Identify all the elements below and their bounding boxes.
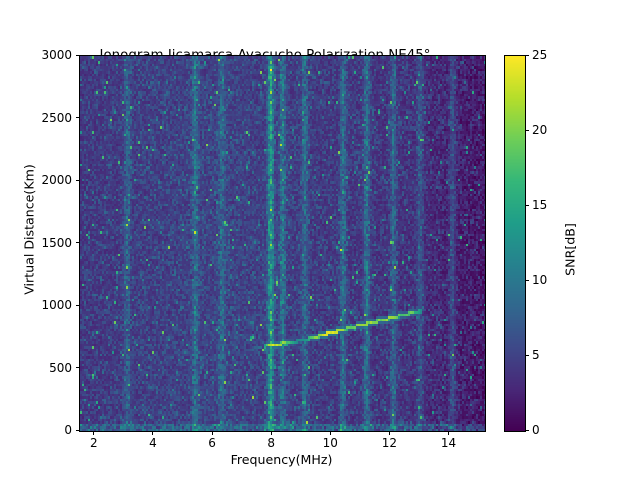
y-tick-label: 2000 [41,172,72,188]
colorbar-tick-mark [525,130,529,131]
y-tick-mark [76,117,80,118]
y-axis: 050010001500200025003000 [0,55,79,430]
colorbar-tick-label: 5 [532,347,540,363]
x-tick-mark [212,431,213,435]
y-tick-label: 1500 [41,235,72,251]
ionogram-heatmap [80,56,485,431]
x-tick-mark [271,431,272,435]
x-tick-label: 6 [192,436,232,450]
x-axis-label: Frequency(MHz) [79,452,484,467]
x-tick-label: 4 [133,436,173,450]
x-tick-label: 10 [310,436,350,450]
colorbar-tick-mark [525,430,529,431]
y-tick-mark [76,305,80,306]
colorbar-tick-label: 15 [532,197,547,213]
ionogram-figure: Ionogram Jicamarca-Ayacucho Polarization… [0,0,640,480]
y-tick-label: 1000 [41,297,72,313]
y-axis-label: Virtual Distance(Km) [22,80,37,380]
y-tick-label: 3000 [41,47,72,63]
x-tick-label: 12 [369,436,409,450]
colorbar-tick-mark [525,205,529,206]
x-tick-label: 8 [251,436,291,450]
y-tick-label: 2500 [41,110,72,126]
colorbar-label: SNR[dB] [563,140,578,360]
x-tick-label: 14 [429,436,469,450]
y-tick-mark [76,55,80,56]
colorbar-tick-mark [525,280,529,281]
colorbar-tick-label: 10 [532,272,547,288]
colorbar-tick-label: 25 [532,47,547,63]
x-tick-label: 2 [74,436,114,450]
colorbar-tick-mark [525,55,529,56]
colorbar-tick-label: 20 [532,122,547,138]
y-tick-mark [76,242,80,243]
colorbar-tick-mark [525,355,529,356]
x-tick-mark [448,431,449,435]
y-tick-label: 0 [64,422,72,438]
ionogram-plot-area [79,55,486,432]
y-tick-mark [76,367,80,368]
y-tick-mark [76,180,80,181]
x-tick-mark [330,431,331,435]
colorbar-tick-label: 0 [532,422,540,438]
x-tick-mark [389,431,390,435]
colorbar-ticks: 0510152025 [504,55,564,430]
y-tick-label: 500 [49,360,72,376]
x-tick-mark [152,431,153,435]
x-tick-mark [93,431,94,435]
